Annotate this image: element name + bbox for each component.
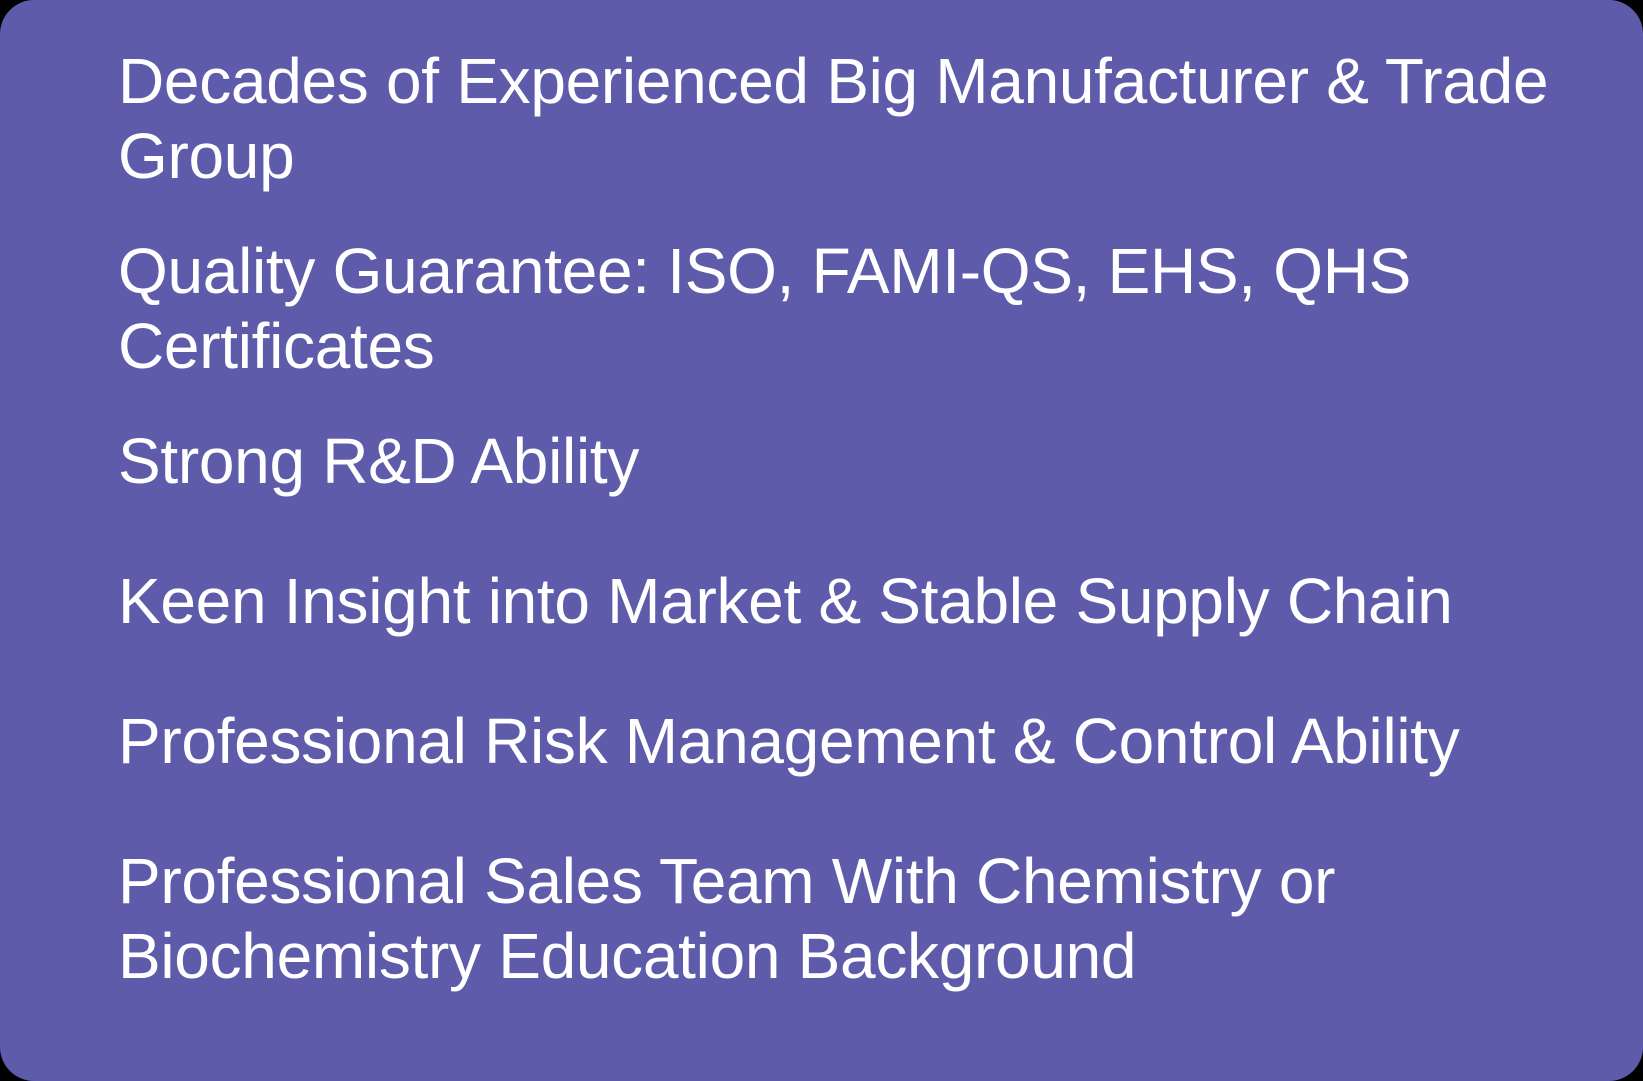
advantage-item-rnd-ability: Strong R&D Ability [118,424,1621,499]
advantage-item-quality-guarantee: Quality Guarantee: ISO, FAMI-QS, EHS, QH… [118,234,1621,384]
advantage-item-sales-team: Professional Sales Team With Chemistry o… [118,844,1621,994]
advantage-item-risk-management: Professional Risk Management & Control A… [118,704,1621,779]
advantage-item-experience: Decades of Experienced Big Manufacturer … [118,44,1621,194]
advantages-card: Decades of Experienced Big Manufacturer … [0,0,1643,1081]
advantage-item-market-insight: Keen Insight into Market & Stable Supply… [118,564,1621,639]
advantages-list: Decades of Experienced Big Manufacturer … [118,0,1621,1081]
